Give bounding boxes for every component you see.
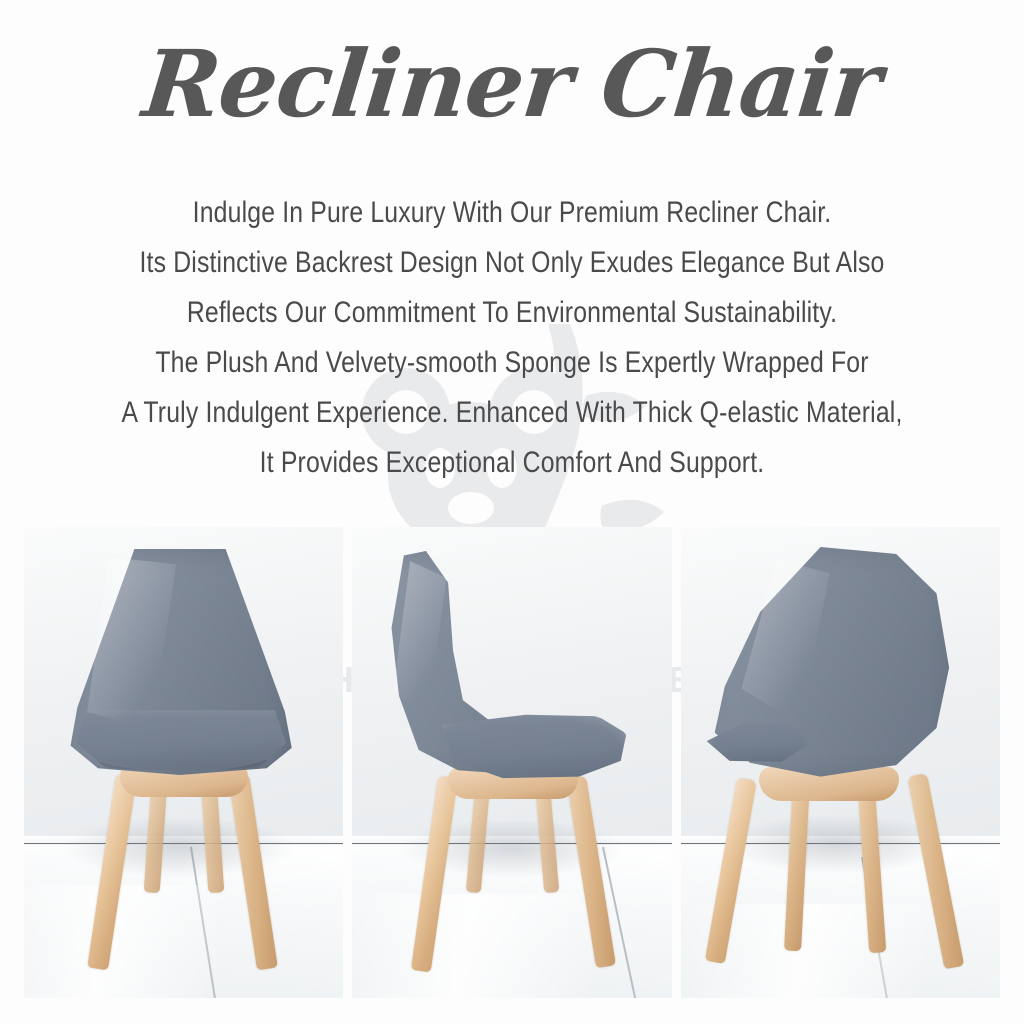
page-title: Recliner Chair [0,36,1024,133]
baseboard [352,836,671,844]
floor-tiles [24,845,343,998]
description-line: Its Distinctive Backrest Design Not Only… [82,238,942,288]
product-description: Indulge In Pure Luxury With Our Premium … [0,188,1024,488]
product-photo-rear-view[interactable] [681,527,1000,998]
description-line: It Provides Exceptional Comfort And Supp… [82,438,942,488]
description-line: Indulge In Pure Luxury With Our Premium … [82,188,942,238]
product-photo-side-view[interactable] [352,527,671,998]
product-marketing-image: KOALA HOME LIFESTYLE Recliner Chair Indu… [0,0,1024,1024]
chair-seat-cushion [72,705,288,771]
description-line: A Truly Indulgent Experience. Enhanced W… [82,388,942,438]
baseboard [24,836,343,844]
product-photo-gallery [24,527,1000,998]
product-photo-front-view[interactable] [24,527,343,998]
floor-tiles [352,845,671,998]
description-line: Reflects Our Commitment To Environmental… [82,288,942,338]
description-line: The Plush And Velvety-smooth Sponge Is E… [82,338,942,388]
